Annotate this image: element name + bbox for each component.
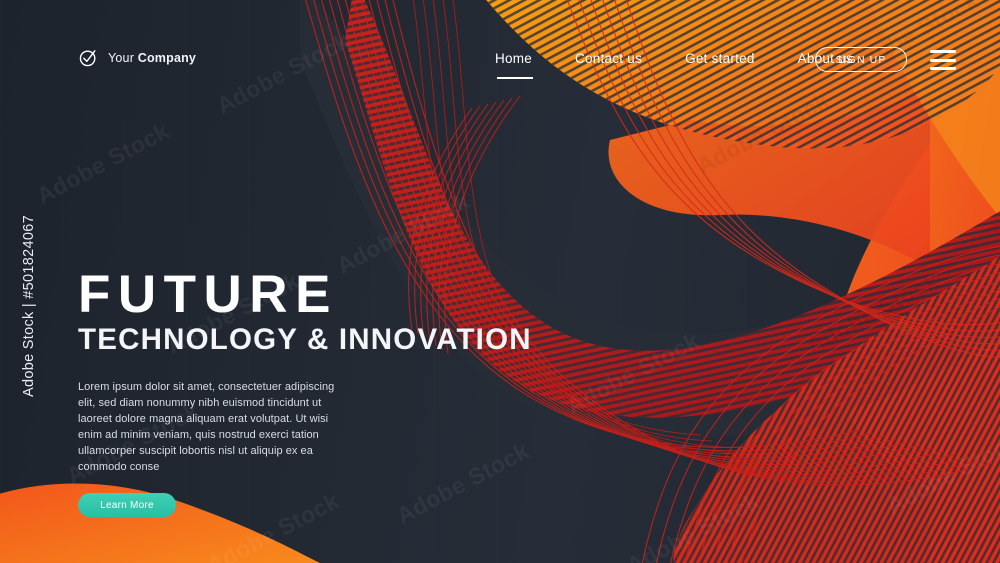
hero-paragraph: Lorem ipsum dolor sit amet, consectetuer…: [78, 379, 340, 476]
brand-name-light: Your: [108, 51, 138, 65]
nav-item-home[interactable]: Home: [495, 47, 532, 70]
hamburger-menu-icon[interactable]: [930, 50, 956, 70]
brand-name: Your Company: [108, 51, 196, 65]
brand-name-bold: Company: [138, 51, 196, 65]
learn-more-button[interactable]: Learn More: [78, 493, 176, 517]
brand-logo[interactable]: Your Company: [78, 47, 196, 68]
site-header: Your Company Home Contact us Get started…: [0, 0, 1000, 118]
nav-item-get-started[interactable]: Get started: [685, 47, 755, 70]
hamburger-bar: [930, 59, 956, 62]
hero-subtitle: TECHNOLOGY & INNOVATION: [78, 325, 548, 355]
hamburger-bar: [930, 67, 956, 70]
check-circle-icon: [78, 47, 99, 68]
hamburger-bar: [930, 50, 956, 53]
hero-title: FUTURE: [78, 268, 548, 321]
sign-up-button[interactable]: SIGN UP: [815, 47, 907, 72]
nav-item-contact-us[interactable]: Contact us: [575, 47, 642, 70]
landing-page-hero-banner: Adobe Stock Adobe Stock Adobe Stock Adob…: [0, 0, 1000, 563]
hero-content: FUTURE TECHNOLOGY & INNOVATION Lorem ips…: [78, 268, 548, 517]
